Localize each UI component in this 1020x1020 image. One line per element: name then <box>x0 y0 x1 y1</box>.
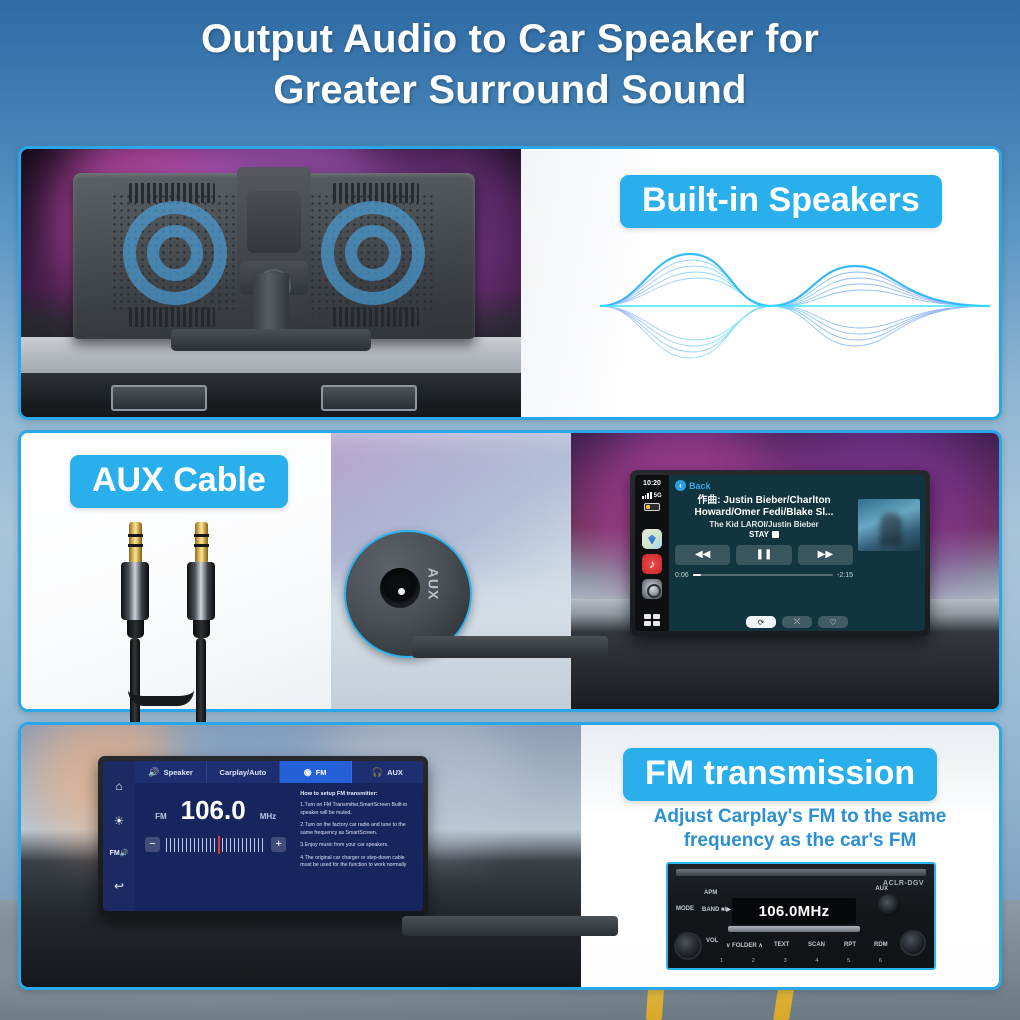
battery-icon <box>644 503 660 511</box>
forward-button[interactable]: ▶▶ <box>798 545 853 565</box>
speaker-ring-right-inner <box>345 225 401 281</box>
car-radio-photo: ACLR-DGV 106.0MHz MODE APM BAND ■/▶ AUX … <box>666 862 936 970</box>
headphone-icon: 🎧 <box>372 767 383 778</box>
fm-device: ⌂ ☀ FM🔊 ↩ 🔊 Speaker Carplay/Auto ◉ FM � <box>98 756 428 916</box>
fm-sidebar: ⌂ ☀ FM🔊 ↩ <box>103 761 135 911</box>
radio-display: 106.0MHz <box>732 898 856 924</box>
frequency-needle <box>218 836 220 854</box>
fm-label: FM <box>155 812 167 821</box>
plug-tip-right <box>195 522 208 562</box>
tab-carplay-auto[interactable]: Carplay/Auto <box>207 761 279 783</box>
album-artwork <box>858 499 920 551</box>
tab-speaker-label: Speaker <box>164 768 193 777</box>
brightness-icon[interactable]: ☀ <box>114 815 125 827</box>
radio-display-shelf <box>728 926 860 932</box>
knob-app-icon[interactable] <box>642 579 662 599</box>
radio-scan-button[interactable]: SCAN <box>808 942 825 948</box>
carplay-app-dock <box>642 529 662 599</box>
carplay-device: 10:20 5G ‹ Back 作曲: Justin Bieber/Charlt… <box>630 470 930 636</box>
repeat-button[interactable]: ⟳ <box>746 616 776 628</box>
tab-speaker[interactable]: 🔊 Speaker <box>135 761 207 783</box>
music-app-icon[interactable] <box>642 554 662 574</box>
tab-fm-label: FM <box>316 768 327 777</box>
radio-preset-3[interactable]: 3 <box>784 958 787 964</box>
fm-help-step-1: 1.Turn on FM Transmitter,SmartScreen Bui… <box>300 802 415 817</box>
back-icon[interactable]: ↩ <box>114 880 124 892</box>
page-title-line2: Greater Surround Sound <box>273 68 746 112</box>
fm-subtitle: Adjust Carplay's FM to the same frequenc… <box>640 805 960 853</box>
carplay-sidebar: 10:20 5G <box>635 475 669 631</box>
elapsed-time: 0:06 <box>675 572 689 579</box>
radio-volume-knob[interactable] <box>674 932 702 960</box>
back-label: Back <box>689 481 711 491</box>
network-label: 5G <box>654 493 662 499</box>
track-title: STAY <box>675 530 853 539</box>
playback-progress[interactable]: 0:06 -2:15 <box>675 572 919 579</box>
badge-built-in-speakers: Built-in Speakers <box>620 175 942 228</box>
radio-band-button[interactable]: BAND ■/▶ <box>702 906 731 913</box>
fm-help-step-3: 3.Enjoy music from your car speakers. <box>300 842 415 850</box>
status-time: 10:20 <box>643 479 661 488</box>
fm-help-text: How to setup FM transmitter: 1.Turn on F… <box>296 783 423 911</box>
back-chevron-icon: ‹ <box>675 480 686 491</box>
aux-port-icon <box>380 568 420 608</box>
air-vent-right <box>321 385 417 411</box>
explicit-badge-icon <box>772 531 779 538</box>
radio-top-trim <box>676 869 926 876</box>
fm-help-step-4: 4.The original car charger or step-down … <box>300 855 415 870</box>
tab-fm[interactable]: ◉ FM <box>280 761 352 783</box>
pause-button[interactable]: ❚❚ <box>736 545 791 565</box>
fm-tuner: FM 106.0 MHz − + <box>135 783 296 911</box>
fm-help-step-2: 2.Turn on the factory car radio and tune… <box>300 822 415 837</box>
page-header: Output Audio to Car Speaker for Greater … <box>0 0 1020 130</box>
increase-frequency-button[interactable]: + <box>271 837 286 852</box>
fm-mount-base <box>402 916 618 936</box>
fm-body: 🔊 Speaker Carplay/Auto ◉ FM 🎧 AUX <box>135 761 423 911</box>
playback-options: ⟳ ⤬ ♡ <box>669 616 925 628</box>
fm-unit: MHz <box>260 812 276 821</box>
fm-signal-icon: ◉ <box>304 767 312 778</box>
fm-frequency: 106.0 <box>181 797 246 823</box>
fm-icon[interactable]: FM🔊 <box>110 850 129 857</box>
page-title-line1: Output Audio to Car Speaker for <box>201 17 819 61</box>
fm-tuning-slider[interactable]: − + <box>145 837 286 852</box>
tab-carplay-auto-label: Carplay/Auto <box>220 768 267 777</box>
app-grid-icon[interactable] <box>644 614 660 626</box>
progress-bar[interactable] <box>693 574 833 576</box>
dashboard-lower <box>21 373 521 417</box>
radio-preset-2[interactable]: 2 <box>752 958 755 964</box>
signal-bars-icon <box>642 492 651 499</box>
vent-slot-bottom-left <box>129 307 215 327</box>
plug-strain-right <box>193 620 210 638</box>
plug-tip-left <box>129 522 142 562</box>
home-icon[interactable]: ⌂ <box>115 780 122 792</box>
back-button[interactable]: ‹ Back <box>675 480 919 491</box>
plug-barrel-right <box>187 562 215 620</box>
vent-slot-bottom-right <box>333 307 419 327</box>
track-artist: The Kid LAROI/Justin Bieber <box>675 520 853 529</box>
aux-port-label: AUX <box>426 568 442 601</box>
radio-aux-label: AUX <box>875 886 888 892</box>
badge-aux-cable: AUX Cable <box>70 455 288 508</box>
plug-barrel-left <box>121 562 149 620</box>
remaining-time: -2:15 <box>837 572 853 579</box>
carplay-mount-base <box>412 636 608 658</box>
badge-fm-transmission: FM transmission <box>623 748 937 801</box>
air-vent-left <box>111 385 207 411</box>
mount-base <box>171 329 371 351</box>
carplay-screen: 10:20 5G ‹ Back 作曲: Justin Bieber/Charlt… <box>635 475 925 631</box>
radio-text-button[interactable]: TEXT <box>774 942 789 948</box>
radio-preset-4[interactable]: 4 <box>815 958 818 964</box>
radio-preset-1[interactable]: 1 <box>720 958 723 964</box>
radio-mode-button[interactable]: MODE <box>676 906 694 912</box>
radio-preset-row: 1 2 3 4 5 6 <box>720 958 882 964</box>
track-title-text: STAY <box>749 530 769 539</box>
speaker-photo <box>21 149 521 417</box>
tab-aux-label: AUX <box>387 768 403 777</box>
speaker-ring-left-inner <box>147 225 203 281</box>
favorite-button[interactable]: ♡ <box>818 616 848 628</box>
radio-aux-jack[interactable] <box>878 894 900 916</box>
rewind-button[interactable]: ◀◀ <box>675 545 730 565</box>
radio-preset-5[interactable]: 5 <box>847 958 850 964</box>
maps-app-icon[interactable] <box>642 529 662 549</box>
page-title: Output Audio to Car Speaker for Greater … <box>201 14 819 116</box>
decrease-frequency-button[interactable]: − <box>145 837 160 852</box>
camera-pad <box>247 191 301 253</box>
fm-help-heading: How to setup FM transmitter: <box>300 791 415 797</box>
status-signal: 5G <box>642 492 661 499</box>
frequency-scale[interactable] <box>166 838 265 852</box>
fm-screen: ⌂ ☀ FM🔊 ↩ 🔊 Speaker Carplay/Auto ◉ FM � <box>103 761 423 911</box>
radio-rpt-button[interactable]: RPT <box>844 942 856 948</box>
radio-brand-label: ACLR-DGV <box>883 880 924 887</box>
radio-vol-label: VOL <box>706 938 718 944</box>
shuffle-button[interactable]: ⤬ <box>782 616 812 628</box>
fm-tab-bar: 🔊 Speaker Carplay/Auto ◉ FM 🎧 AUX <box>135 761 423 783</box>
tab-aux[interactable]: 🎧 AUX <box>352 761 423 783</box>
fm-content: FM 106.0 MHz − + How to setup FM transmi… <box>135 783 423 911</box>
speaker-icon: 🔊 <box>148 767 159 778</box>
radio-tune-knob[interactable] <box>900 930 926 956</box>
plug-strain-left <box>127 620 144 638</box>
aux-cable-loop <box>128 690 194 706</box>
radio-preset-6[interactable]: 6 <box>879 958 882 964</box>
fm-frequency-row: FM 106.0 MHz <box>145 797 286 823</box>
track-composer: 作曲: Justin Bieber/Charlton Howard/Omer F… <box>675 495 853 519</box>
sound-wave-graphic <box>600 236 990 376</box>
plug-cord-right <box>196 638 206 730</box>
carplay-now-playing: ‹ Back 作曲: Justin Bieber/Charlton Howard… <box>669 475 925 631</box>
radio-rdm-button[interactable]: RDM <box>874 942 888 948</box>
radio-frequency: 106.0MHz <box>759 903 830 920</box>
plug-cord-left <box>130 638 140 730</box>
radio-apm-label: APM <box>704 890 717 896</box>
radio-folder-button[interactable]: ∨ FOLDER ∧ <box>726 942 763 949</box>
